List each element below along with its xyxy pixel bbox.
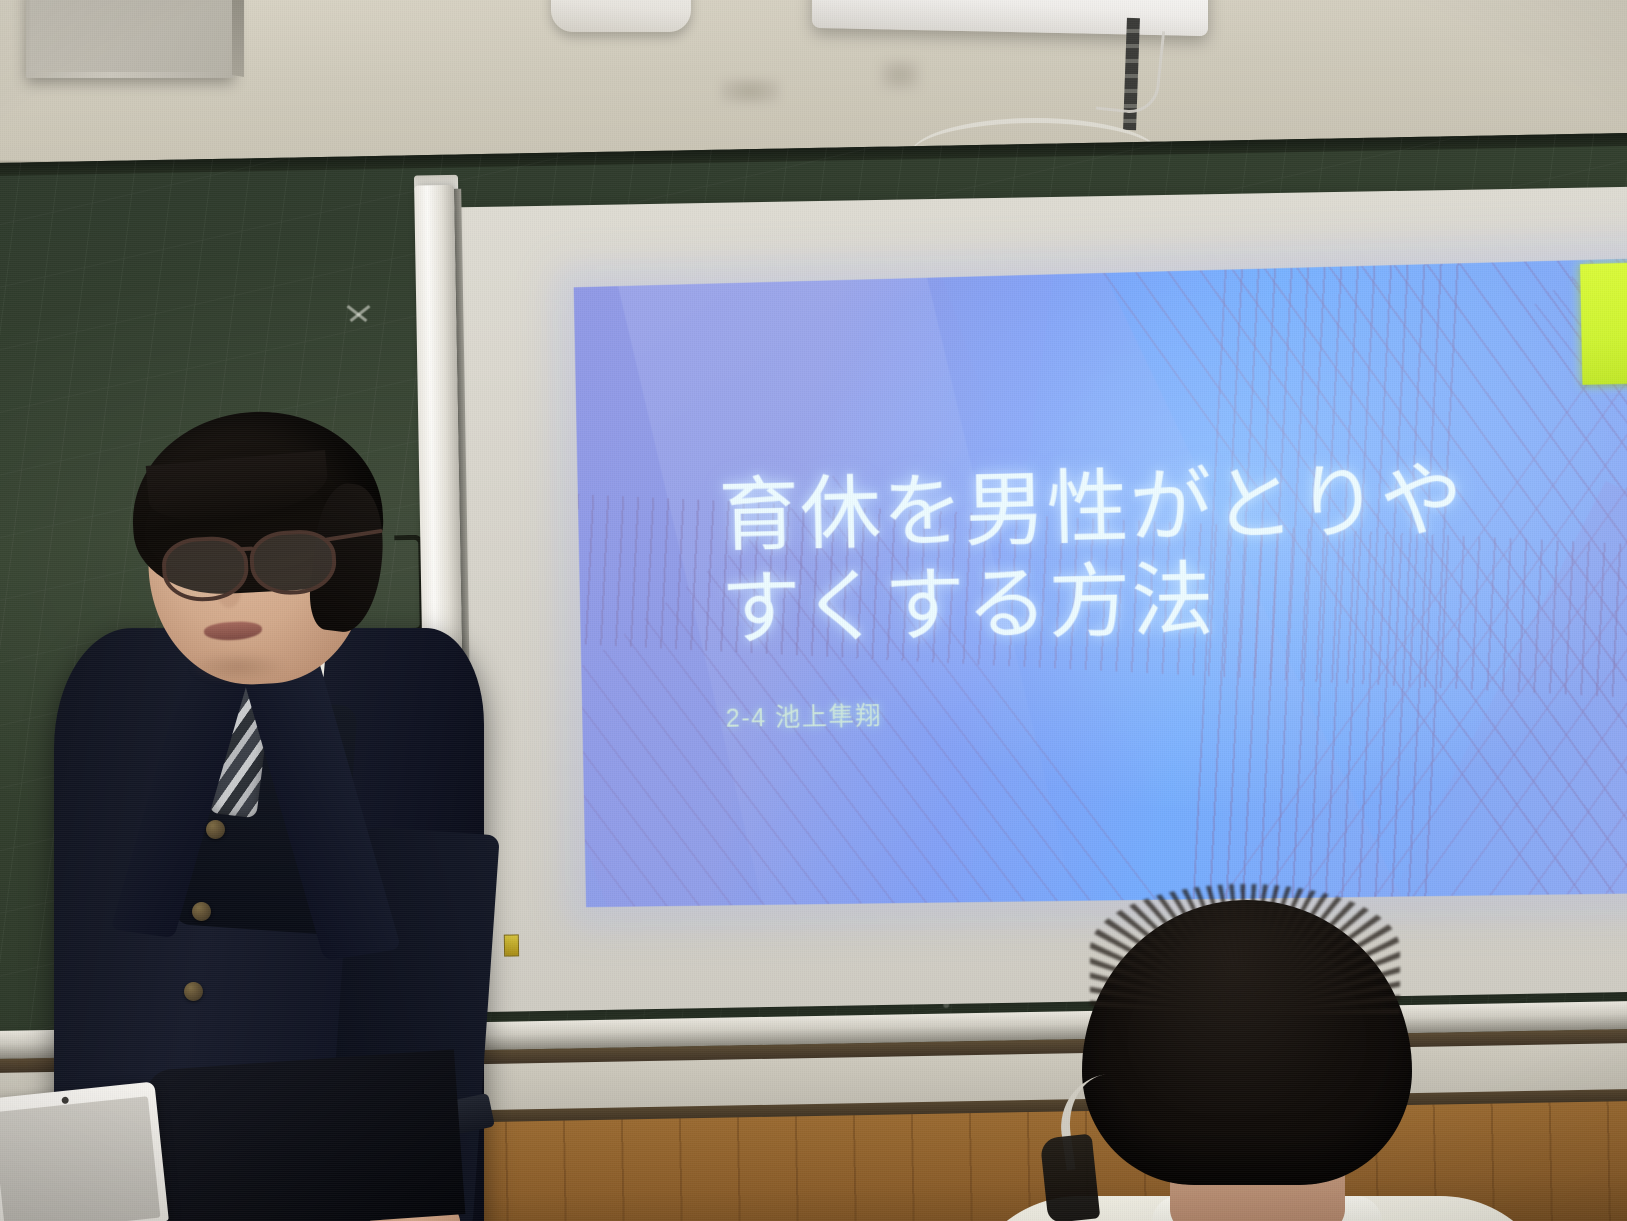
desk-dark-area [145, 1049, 466, 1221]
blazer-button [184, 982, 203, 1001]
chin-shadow [190, 652, 286, 682]
speaker-grille [30, 0, 228, 72]
glasses-icon [153, 526, 376, 597]
laptop-screen [0, 1096, 160, 1221]
wall-smudge [720, 78, 780, 104]
foreground-student-hair-fuzz [1090, 884, 1400, 1014]
wall-speaker [26, 0, 234, 78]
laptop-lid [0, 1081, 169, 1221]
blazer-button [192, 902, 211, 921]
open-laptop[interactable] [0, 1081, 169, 1221]
glasses-lens-left [161, 535, 250, 603]
hanging-strap [1040, 1134, 1101, 1221]
blazer-button [206, 820, 225, 839]
glasses-bridge [237, 547, 253, 552]
slide-title: 育休を男性がとりや すくする方法 [718, 451, 1572, 657]
wifi-access-point [551, 0, 691, 32]
slide-title-line-1: 育休を男性がとりや [718, 451, 1570, 564]
sticky-note [1580, 262, 1627, 384]
slide-subtitle: 2-4 池上隼翔 [725, 696, 882, 735]
webcam-icon [61, 1096, 69, 1104]
classroom-photo-scene: 育休を男性がとりや すくする方法 2-4 池上隼翔 [0, 0, 1627, 1221]
slide-title-line-2: すくする方法 [720, 545, 1572, 656]
projection-screen: 育休を男性がとりや すくする方法 2-4 池上隼翔 [461, 187, 1627, 1012]
projected-slide: 育休を男性がとりや すくする方法 2-4 池上隼翔 [574, 258, 1627, 907]
wall-smudge-secondary [880, 60, 920, 90]
